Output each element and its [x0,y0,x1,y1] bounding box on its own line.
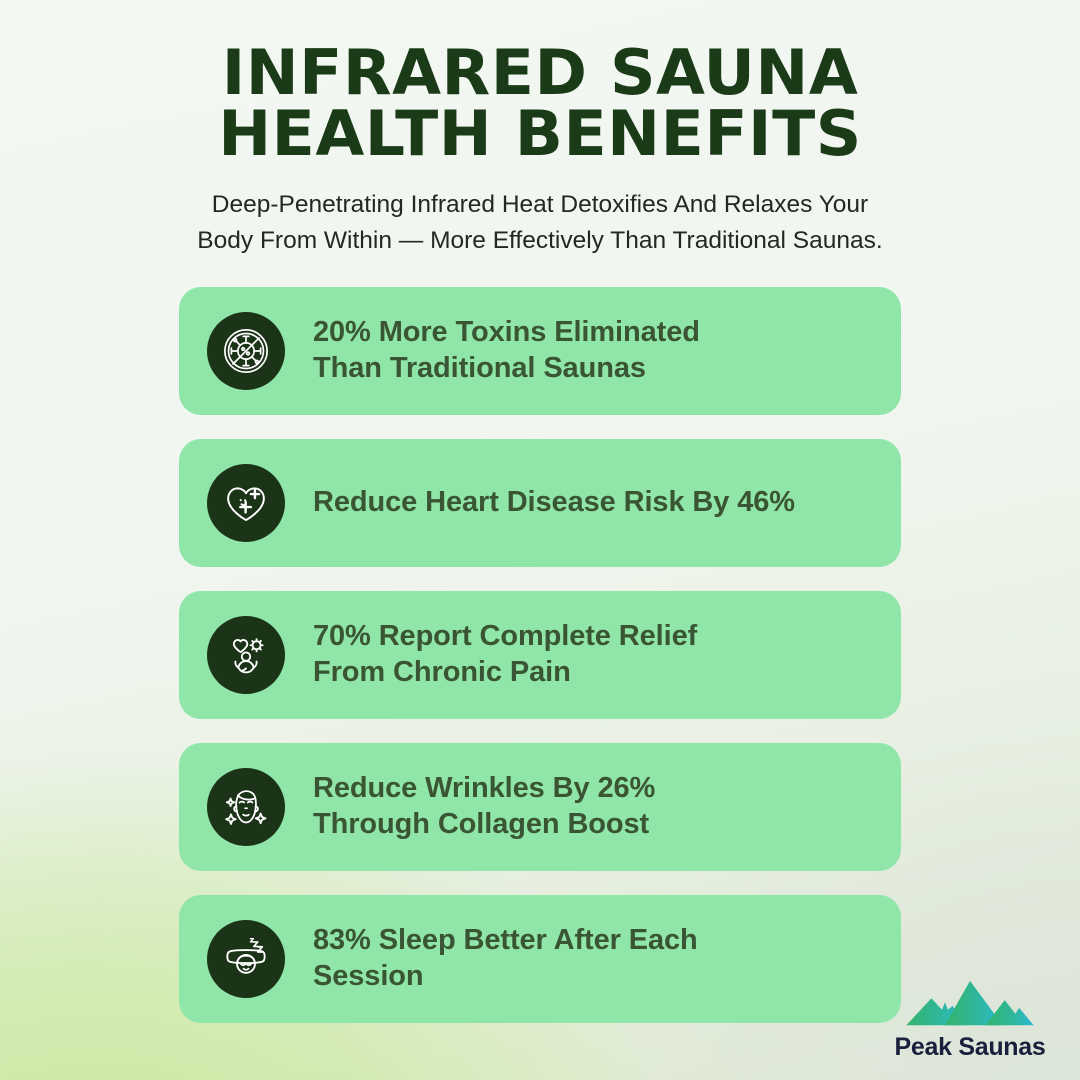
page-title: INFRARED SAUNA HEALTH BENEFITS [0,42,1080,165]
brand-logo: Peak Saunas [882,977,1058,1062]
benefit-card: 20% More Toxins Eliminated Than Traditio… [179,287,901,415]
benefit-text: Reduce Heart Disease Risk By 46% [313,485,795,521]
benefit-line-2: Session [313,959,698,995]
logo-text: Peak Saunas [882,1033,1058,1062]
meditating-person-icon [207,616,285,694]
benefit-card: 70% Report Complete Relief From Chronic … [179,591,901,719]
benefit-card: Reduce Heart Disease Risk By 46% [179,439,901,567]
subtitle-line-1: Deep-Penetrating Infrared Heat Detoxifie… [145,187,935,223]
title-line-1: INFRARED SAUNA [0,42,1080,103]
benefit-line-1: 20% More Toxins Eliminated [313,315,700,351]
benefits-list: 20% More Toxins Eliminated Than Traditio… [179,287,901,1023]
subtitle-line-2: Body From Within — More Effectively Than… [145,223,935,259]
benefit-line-1: 70% Report Complete Relief [313,619,697,655]
sleeping-face-icon [207,920,285,998]
no-virus-icon [207,312,285,390]
benefit-line-1: Reduce Heart Disease Risk By 46% [313,485,795,521]
benefit-line-1: Reduce Wrinkles By 26% [313,771,655,807]
header: INFRARED SAUNA HEALTH BENEFITS Deep-Pene… [0,0,1080,259]
infographic-poster: INFRARED SAUNA HEALTH BENEFITS Deep-Pene… [0,0,1080,1080]
heart-medical-icon [207,464,285,542]
benefit-line-1: 83% Sleep Better After Each [313,923,698,959]
benefit-text: 20% More Toxins Eliminated Than Traditio… [313,315,700,387]
subtitle: Deep-Penetrating Infrared Heat Detoxifie… [145,187,935,259]
benefit-text: 83% Sleep Better After Each Session [313,923,698,995]
benefit-line-2: Through Collagen Boost [313,807,655,843]
benefit-card: 83% Sleep Better After Each Session [179,895,901,1023]
title-line-2: HEALTH BENEFITS [0,103,1080,164]
benefit-text: Reduce Wrinkles By 26% Through Collagen … [313,771,655,843]
benefit-text: 70% Report Complete Relief From Chronic … [313,619,697,691]
glowing-face-icon [207,768,285,846]
benefit-line-2: Than Traditional Saunas [313,351,700,387]
benefit-card: Reduce Wrinkles By 26% Through Collagen … [179,743,901,871]
mountain-icon [882,977,1058,1031]
benefit-line-2: From Chronic Pain [313,655,697,691]
